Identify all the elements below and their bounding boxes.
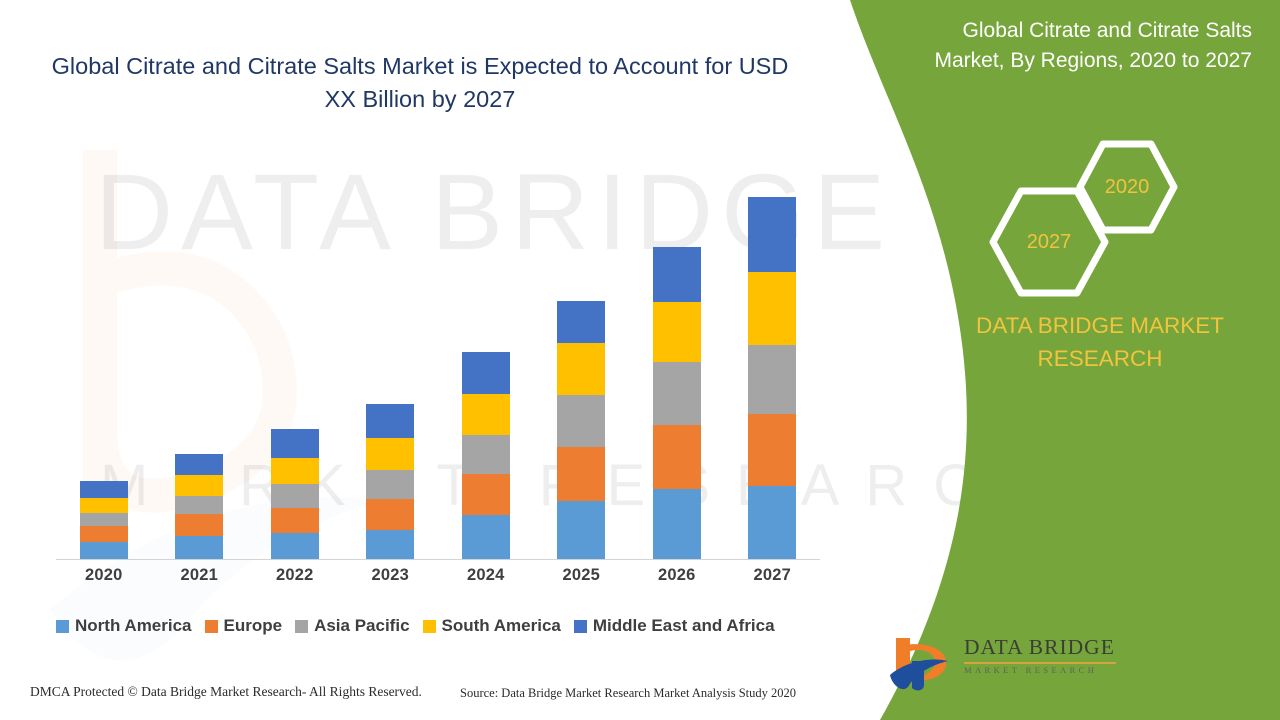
bar-segment bbox=[748, 272, 796, 345]
legend-swatch-icon bbox=[295, 620, 308, 633]
bar-segment bbox=[80, 513, 128, 526]
bar-segment bbox=[653, 362, 701, 425]
bar-segment bbox=[366, 470, 414, 499]
stacked-bar bbox=[653, 247, 701, 559]
bar-segment bbox=[462, 474, 510, 516]
panel-title: Global Citrate and Citrate Salts Market,… bbox=[912, 16, 1252, 77]
bar-segment bbox=[366, 499, 414, 530]
bar-segment bbox=[175, 454, 223, 474]
bar-segment bbox=[748, 345, 796, 414]
bar-column-2027 bbox=[725, 171, 821, 559]
x-axis-label-2024: 2024 bbox=[438, 566, 534, 585]
stacked-bar bbox=[175, 454, 223, 559]
x-axis-label-2026: 2026 bbox=[629, 566, 725, 585]
bar-segment bbox=[366, 530, 414, 559]
bar-column-2024 bbox=[438, 171, 534, 559]
bar-segment bbox=[653, 425, 701, 489]
legend-swatch-icon bbox=[423, 620, 436, 633]
bar-segment bbox=[271, 533, 319, 559]
x-axis-label-2022: 2022 bbox=[247, 566, 343, 585]
x-axis-labels: 20202021202220232024202520262027 bbox=[56, 566, 820, 585]
bar-segment bbox=[557, 343, 605, 395]
bar-column-2025 bbox=[534, 171, 630, 559]
bar-segment bbox=[175, 536, 223, 559]
x-axis-label-2025: 2025 bbox=[534, 566, 630, 585]
bar-segment bbox=[653, 247, 701, 302]
bar-segment bbox=[653, 302, 701, 362]
legend-item[interactable]: Europe bbox=[205, 616, 283, 636]
stacked-bar bbox=[271, 429, 319, 559]
logo-subtitle: MARKET RESEARCH bbox=[964, 666, 1124, 675]
source-note: Source: Data Bridge Market Research Mark… bbox=[460, 686, 796, 701]
stacked-bar bbox=[557, 301, 605, 559]
chart-legend: North AmericaEuropeAsia PacificSouth Ame… bbox=[56, 616, 836, 636]
bar-segment bbox=[557, 447, 605, 501]
bar-column-2022 bbox=[247, 171, 343, 559]
legend-item[interactable]: North America bbox=[56, 616, 192, 636]
infographic-canvas: DATA BRIDGE MARKET RESEARCH Global Citra… bbox=[0, 0, 1280, 720]
legend-swatch-icon bbox=[574, 620, 587, 633]
hexagon-badges: 2020 2027 bbox=[988, 140, 1178, 280]
legend-item[interactable]: South America bbox=[423, 616, 561, 636]
legend-label: South America bbox=[442, 616, 561, 636]
legend-label: Europe bbox=[224, 616, 283, 636]
company-logo: DATA BRIDGE MARKET RESEARCH bbox=[888, 635, 1103, 697]
x-axis-label-2021: 2021 bbox=[152, 566, 248, 585]
legend-item[interactable]: Middle East and Africa bbox=[574, 616, 775, 636]
bar-segment bbox=[557, 301, 605, 343]
legend-label: Asia Pacific bbox=[314, 616, 409, 636]
stacked-bar-chart bbox=[56, 170, 826, 560]
logo-divider bbox=[964, 662, 1116, 664]
bar-segment bbox=[748, 197, 796, 272]
bar-column-2020 bbox=[56, 171, 152, 559]
x-axis-label-2023: 2023 bbox=[343, 566, 439, 585]
bar-segment bbox=[271, 429, 319, 458]
bar-segment bbox=[175, 514, 223, 535]
bar-segment bbox=[366, 438, 414, 470]
x-axis-label-2020: 2020 bbox=[56, 566, 152, 585]
brand-name: DATA BRIDGE MARKET RESEARCH bbox=[940, 310, 1260, 375]
bar-segment bbox=[462, 435, 510, 474]
bar-segment bbox=[175, 475, 223, 496]
bar-segment bbox=[366, 404, 414, 438]
x-axis-line bbox=[56, 559, 820, 560]
bar-segment bbox=[271, 508, 319, 533]
bar-segment bbox=[175, 496, 223, 514]
x-axis-label-2027: 2027 bbox=[725, 566, 821, 585]
legend-swatch-icon bbox=[205, 620, 218, 633]
bar-segment bbox=[80, 481, 128, 497]
legend-swatch-icon bbox=[56, 620, 69, 633]
stacked-bar bbox=[80, 481, 128, 559]
bar-segment bbox=[271, 484, 319, 507]
bar-segment bbox=[462, 352, 510, 394]
bar-segment bbox=[462, 515, 510, 559]
bar-segment bbox=[748, 414, 796, 487]
bar-segment bbox=[271, 458, 319, 484]
legend-item[interactable]: Asia Pacific bbox=[295, 616, 409, 636]
bar-column-2023 bbox=[343, 171, 439, 559]
stacked-bar bbox=[366, 404, 414, 559]
bar-segment bbox=[462, 394, 510, 435]
bar-segment bbox=[748, 486, 796, 559]
bar-segment bbox=[557, 395, 605, 446]
bar-segment bbox=[653, 489, 701, 559]
page-title: Global Citrate and Citrate Salts Market … bbox=[40, 50, 800, 117]
logo-mark-icon bbox=[888, 635, 954, 693]
bar-column-2026 bbox=[629, 171, 725, 559]
logo-text: DATA BRIDGE MARKET RESEARCH bbox=[964, 637, 1124, 674]
bar-column-2021 bbox=[152, 171, 248, 559]
stacked-bar bbox=[462, 352, 510, 559]
hexagon-badge-2027: 2027 bbox=[988, 186, 1110, 298]
bar-segment bbox=[80, 542, 128, 559]
logo-title: DATA BRIDGE bbox=[964, 637, 1124, 659]
dmca-notice: DMCA Protected © Data Bridge Market Rese… bbox=[30, 684, 422, 700]
bar-segment bbox=[80, 498, 128, 514]
stacked-bar bbox=[748, 197, 796, 559]
legend-label: North America bbox=[75, 616, 192, 636]
hexagon-badge-2027-label: 2027 bbox=[988, 186, 1110, 298]
bar-segment bbox=[80, 526, 128, 542]
chart-bars bbox=[56, 171, 820, 559]
bar-segment bbox=[557, 501, 605, 559]
legend-label: Middle East and Africa bbox=[593, 616, 775, 636]
